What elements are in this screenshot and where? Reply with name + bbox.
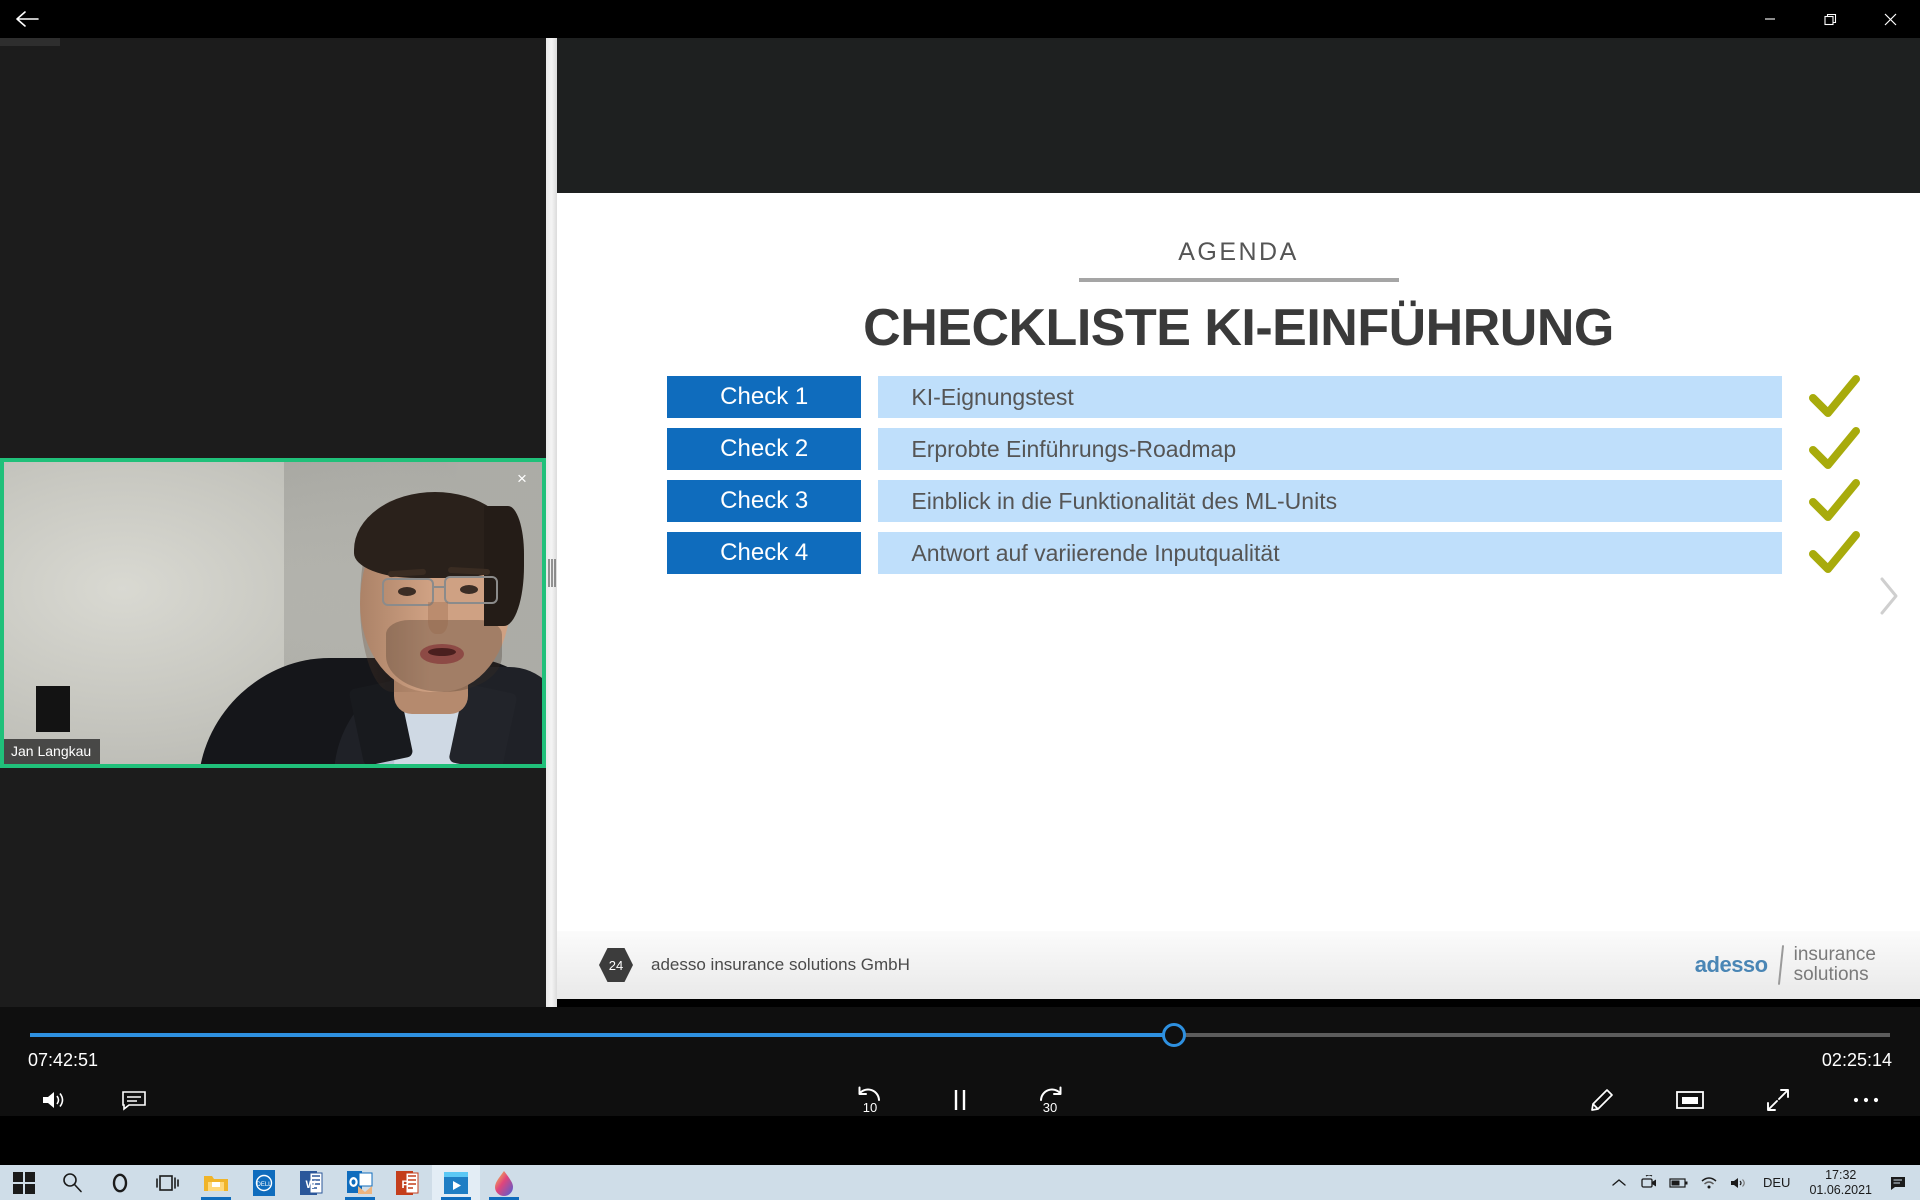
player-left-controls: [34, 1080, 154, 1120]
pane-splitter[interactable]: [546, 38, 557, 1107]
checklist-row-badge: Check 3: [667, 480, 861, 522]
more-options-icon[interactable]: [1846, 1080, 1886, 1120]
wifi-icon[interactable]: [1694, 1165, 1724, 1200]
taskbar-item-file-explorer[interactable]: [192, 1165, 240, 1200]
svg-text:30: 30: [1043, 1100, 1057, 1115]
checklist: Check 1KI-EignungstestCheck 2Erprobte Ei…: [667, 376, 1867, 584]
slide-right-pane: AGENDA CHECKLISTE KI-EINFÜHRUNG Check 1K…: [557, 38, 1920, 1107]
restore-button[interactable]: [1800, 0, 1860, 38]
svg-text:P: P: [402, 1179, 409, 1191]
logo-insurance-solutions-text: insurance solutions: [1794, 945, 1876, 985]
checklist-row: Check 3Einblick in die Funktionalität de…: [667, 480, 1867, 522]
logo-divider-icon: [1768, 945, 1794, 985]
checklist-row-badge: Check 4: [667, 532, 861, 574]
back-button[interactable]: [0, 0, 56, 38]
seek-progress: [30, 1033, 1174, 1037]
checklist-row-text: Einblick in die Funktionalität des ML-Un…: [878, 480, 1782, 522]
checkmark-icon: [1802, 426, 1867, 472]
webcam-close-icon[interactable]: ×: [510, 466, 534, 490]
slide-footer-company: adesso insurance solutions GmbH: [651, 955, 910, 975]
checkmark-icon: [1802, 374, 1867, 420]
content-area: × Jan Langkau AGENDA CHECKLISTE KI-EINFÜ…: [0, 38, 1920, 1116]
current-time: 07:42:51: [28, 1050, 98, 1071]
pencil-icon[interactable]: [1582, 1080, 1622, 1120]
svg-text:10: 10: [863, 1100, 877, 1115]
app-root: × Jan Langkau AGENDA CHECKLISTE KI-EINFÜ…: [0, 0, 1920, 1200]
taskbar-item-movies-tv[interactable]: [432, 1165, 480, 1200]
checklist-row: Check 4Antwort auf variierende Inputqual…: [667, 532, 1867, 574]
slide-eyebrow: AGENDA: [557, 238, 1920, 267]
tray-clock[interactable]: 17:32 01.06.2021: [1799, 1168, 1882, 1198]
tray-language[interactable]: DEU: [1754, 1175, 1799, 1190]
adesso-logo: adesso insurance solutions: [1695, 945, 1876, 985]
logo-line-2: solutions: [1794, 964, 1869, 985]
taskbar-item-outlook[interactable]: [336, 1165, 384, 1200]
next-slide-icon[interactable]: [1872, 569, 1906, 623]
player-center-controls: 10 30: [850, 1080, 1070, 1120]
system-tray: DEU 17:32 01.06.2021: [1604, 1165, 1920, 1200]
close-button[interactable]: [1860, 0, 1920, 38]
taskbar-item-cortana[interactable]: [96, 1165, 144, 1200]
seek-thumb[interactable]: [1162, 1023, 1186, 1047]
taskbar-item-word[interactable]: W: [288, 1165, 336, 1200]
tray-date: 01.06.2021: [1809, 1183, 1872, 1198]
checklist-row-text: KI-Eignungstest: [878, 376, 1782, 418]
checklist-row: Check 2Erprobte Einführungs-Roadmap: [667, 428, 1867, 470]
total-time: 02:25:14: [1822, 1050, 1892, 1071]
taskbar-item-search[interactable]: [48, 1165, 96, 1200]
action-center-icon[interactable]: [1882, 1165, 1916, 1200]
taskbar-item-dell[interactable]: DELL: [240, 1165, 288, 1200]
webcam-tile[interactable]: × Jan Langkau: [0, 458, 546, 768]
splitter-grip-icon: [548, 559, 555, 587]
checklist-row-text: Erprobte Einführungs-Roadmap: [878, 428, 1782, 470]
taskbar-item-start[interactable]: [0, 1165, 48, 1200]
pane-tab-marker: [0, 38, 60, 46]
meeting-camera-icon[interactable]: [1634, 1165, 1664, 1200]
player-right-controls: [1582, 1080, 1886, 1120]
taskbar-item-powerpoint[interactable]: P: [384, 1165, 432, 1200]
checklist-row-badge: Check 2: [667, 428, 861, 470]
checklist-row-badge: Check 1: [667, 376, 861, 418]
checkmark-icon: [1802, 478, 1867, 524]
captions-icon[interactable]: [114, 1080, 154, 1120]
title-bar: [0, 0, 1920, 38]
fullscreen-icon[interactable]: [1758, 1080, 1798, 1120]
seek-bar[interactable]: [30, 1033, 1890, 1037]
mini-player-icon[interactable]: [1670, 1080, 1710, 1120]
checklist-row-text: Antwort auf variierende Inputqualität: [878, 532, 1782, 574]
tray-volume-icon[interactable]: [1724, 1165, 1754, 1200]
slide-footer: 24 adesso insurance solutions GmbH adess…: [557, 931, 1920, 999]
webcam-participant-name: Jan Langkau: [4, 739, 100, 764]
taskbar-item-paint-3d[interactable]: [480, 1165, 528, 1200]
taskbar: DELL W: [0, 1165, 1920, 1200]
volume-icon[interactable]: [34, 1080, 74, 1120]
checklist-row: Check 1KI-Eignungstest: [667, 376, 1867, 418]
slide-page-number: 24: [599, 948, 633, 982]
show-hidden-icons-chevron-icon[interactable]: [1604, 1165, 1634, 1200]
webcam-video: [4, 462, 542, 764]
checkmark-icon: [1802, 530, 1867, 576]
forward-30-icon[interactable]: 30: [1030, 1080, 1070, 1120]
logo-line-1: insurance: [1794, 944, 1876, 965]
svg-text:DELL: DELL: [256, 1182, 272, 1188]
video-left-pane: × Jan Langkau: [0, 38, 557, 1107]
presentation-slide[interactable]: AGENDA CHECKLISTE KI-EINFÜHRUNG Check 1K…: [557, 193, 1920, 999]
play-pause-icon[interactable]: [940, 1080, 980, 1120]
slide-top-letterbox: [557, 38, 1920, 193]
tray-time: 17:32: [1809, 1168, 1872, 1183]
rewind-10-icon[interactable]: 10: [850, 1080, 890, 1120]
slide-title: CHECKLISTE KI-EINFÜHRUNG: [557, 298, 1920, 358]
slide-eyebrow-rule: [1079, 278, 1399, 282]
minimize-button[interactable]: [1740, 0, 1800, 38]
svg-text:W: W: [306, 1179, 317, 1191]
logo-adesso-text: adesso: [1695, 952, 1768, 978]
battery-icon[interactable]: [1664, 1165, 1694, 1200]
taskbar-item-task-view[interactable]: [144, 1165, 192, 1200]
